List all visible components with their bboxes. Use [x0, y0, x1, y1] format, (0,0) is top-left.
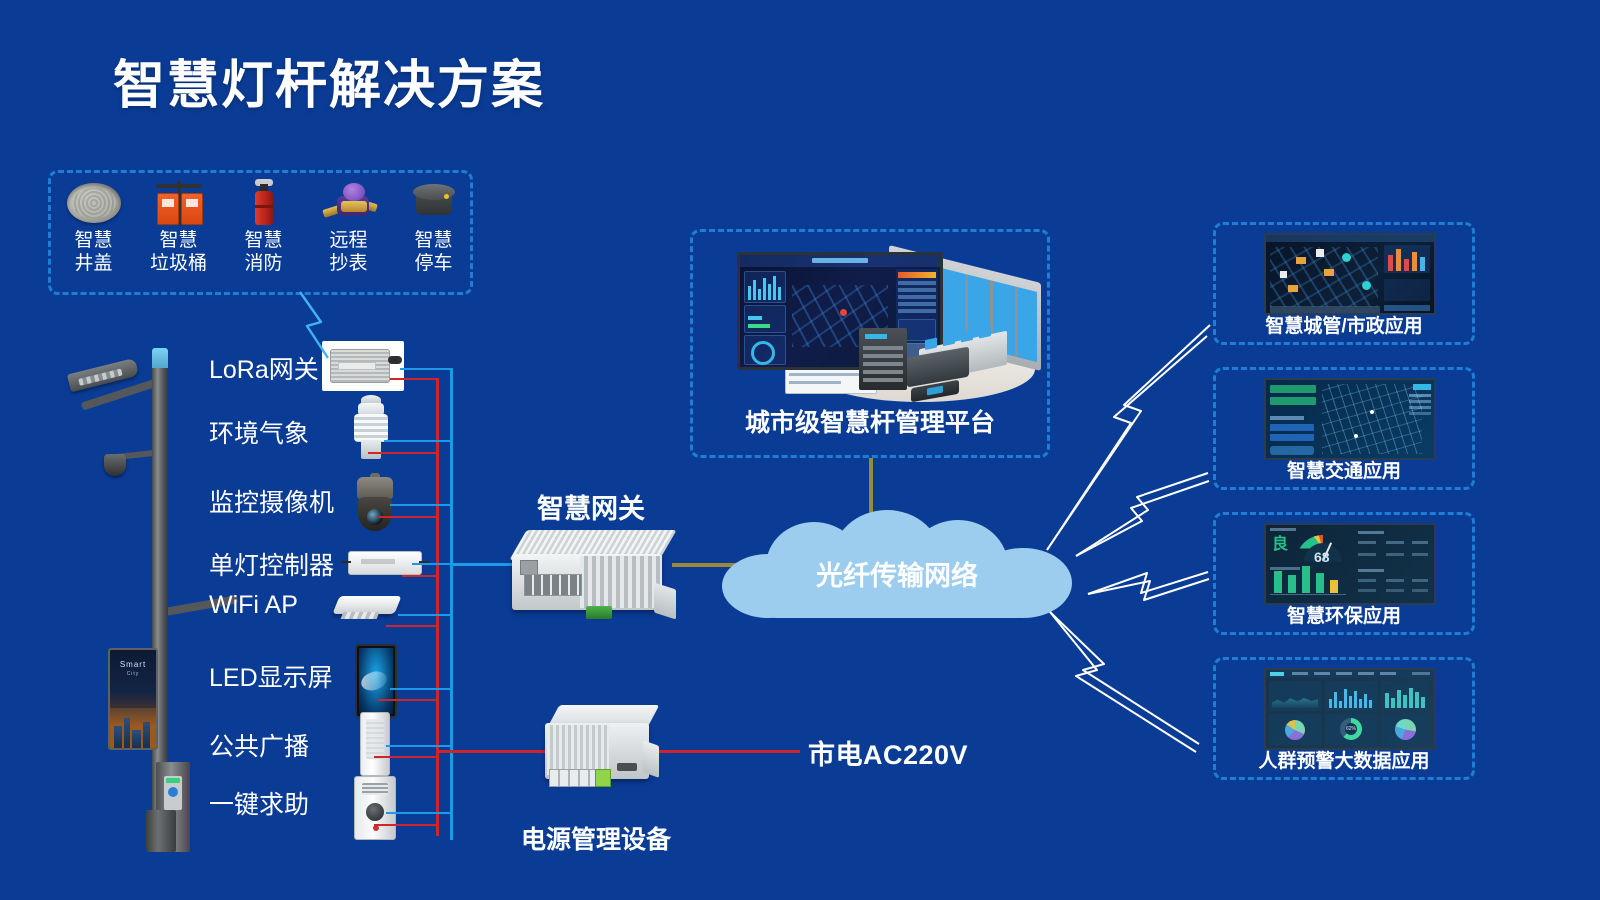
- smart-pole-illustration: Smart City: [60, 330, 250, 850]
- smart-gateway-device: [512, 530, 674, 620]
- aqi-value: 68: [1314, 549, 1330, 565]
- crowd-bigdata-dashboard: 62%: [1264, 668, 1436, 750]
- gateway-label: 智慧网关: [537, 487, 645, 526]
- pole-screen-line1: Smart: [110, 660, 156, 669]
- pole-screen-line2: City: [110, 671, 156, 677]
- app-card-label: 智慧环保应用: [1216, 601, 1472, 628]
- fire-extinguisher-icon: [231, 177, 297, 227]
- wifi-ap-icon: [336, 592, 404, 626]
- app-card-label: 智慧城管/市政应用: [1216, 311, 1472, 338]
- iot-item-parking[interactable]: 智慧停车: [391, 173, 476, 298]
- data-wire: [400, 368, 452, 370]
- power-wire: [386, 625, 438, 627]
- power-wire: [390, 378, 438, 380]
- traffic-map-dashboard: [1264, 378, 1436, 460]
- data-wire: [398, 614, 452, 616]
- pole-camera-icon: [104, 454, 126, 476]
- iot-item-label: 远程抄表: [329, 229, 367, 275]
- donut-value: 62%: [1339, 726, 1363, 732]
- public-speaker-icon: [360, 712, 390, 776]
- iot-item-label: 智慧消防: [244, 229, 282, 275]
- main-dashboard-screen: [737, 252, 943, 370]
- app-card-label: 智慧交通应用: [1216, 456, 1472, 483]
- mains-voltage-label: 市电AC220V: [808, 733, 968, 772]
- cloud-label: 光纤传输网络: [722, 554, 1072, 593]
- app-card-crowd-bigdata[interactable]: 62% 人群预警大数据应用: [1213, 657, 1475, 780]
- power-wire: [402, 575, 438, 577]
- city-management-dashboard: [1264, 233, 1436, 315]
- environment-gauge-dashboard: 良 68: [1264, 523, 1436, 605]
- bolt-to-crowd-bigdata: [1050, 612, 1199, 752]
- diagram-canvas: 智慧灯杆解决方案 智慧井盖 智慧垃圾桶: [0, 0, 1600, 900]
- water-meter-icon: [316, 177, 382, 227]
- page-title: 智慧灯杆解决方案: [113, 43, 545, 118]
- power-wire: [378, 699, 438, 701]
- fiber-network-cloud: 光纤传输网络: [722, 510, 1072, 632]
- data-wire: [386, 812, 452, 814]
- server-rack-icon: [859, 328, 907, 390]
- data-wire: [384, 440, 452, 442]
- bolt-to-environment: [1088, 572, 1209, 600]
- data-wire-to-gateway: [450, 563, 518, 566]
- pole-foot: [146, 810, 176, 852]
- bolt-to-traffic: [1076, 473, 1209, 556]
- power-wire: [368, 452, 438, 454]
- led-display-icon: [355, 644, 397, 718]
- parking-sensor-icon: [401, 177, 467, 227]
- power-management-device: [545, 705, 660, 795]
- data-wire: [390, 688, 452, 690]
- power-wire-to-psu: [436, 750, 554, 753]
- device-label-camera: 监控摄像机: [209, 483, 334, 519]
- iot-item-meter[interactable]: 远程抄表: [306, 173, 391, 298]
- device-label-help: 一键求助: [209, 785, 309, 821]
- lamp-controller-icon: [348, 551, 422, 575]
- iot-item-fire[interactable]: 智慧消防: [221, 173, 306, 298]
- device-label-speaker: 公共广播: [209, 727, 309, 763]
- iot-terminals-panel: 智慧井盖 智慧垃圾桶 智慧消防: [48, 170, 473, 295]
- device-label-wifi-ap: WiFi AP: [209, 591, 298, 620]
- app-card-city-management[interactable]: 智慧城管/市政应用: [1213, 222, 1475, 345]
- management-platform-panel: 城市级智慧杆管理平台: [690, 229, 1050, 458]
- app-card-traffic[interactable]: 智慧交通应用: [1213, 367, 1475, 490]
- iot-item-label: 智慧井盖: [74, 229, 112, 275]
- power-wire: [374, 824, 438, 826]
- power-bus-line: [436, 378, 439, 836]
- device-label-weather: 环境气象: [209, 414, 309, 450]
- iot-item-label: 智慧停车: [414, 229, 452, 275]
- device-label-lora: LoRa网关: [209, 350, 319, 386]
- data-wire: [412, 563, 452, 565]
- iot-item-manhole[interactable]: 智慧井盖: [51, 173, 136, 298]
- iot-item-trash-bin[interactable]: 智慧垃圾桶: [136, 173, 221, 298]
- platform-illustration: [711, 244, 1041, 404]
- data-wire: [386, 745, 452, 747]
- app-card-environment[interactable]: 良 68 智慧环保应用: [1213, 512, 1475, 635]
- data-wire: [390, 504, 452, 506]
- platform-title: 城市级智慧杆管理平台: [693, 403, 1047, 439]
- data-bus-line: [450, 368, 453, 840]
- manhole-cover-icon: [61, 177, 127, 227]
- device-label-lamp-controller: 单灯控制器: [209, 546, 334, 582]
- pole-led-screen: Smart City: [108, 648, 158, 750]
- power-wire: [374, 756, 438, 758]
- trash-bin-icon: [146, 177, 212, 227]
- power-device-label: 电源管理设备: [521, 820, 671, 856]
- device-label-led-screen: LED显示屏: [209, 658, 333, 694]
- aqi-grade: 良: [1272, 537, 1288, 553]
- app-card-label: 人群预警大数据应用: [1216, 746, 1472, 773]
- iot-item-label: 智慧垃圾桶: [150, 229, 207, 275]
- help-call-icon: [354, 776, 396, 840]
- lora-gateway-icon: [322, 341, 404, 391]
- power-wire: [378, 516, 438, 518]
